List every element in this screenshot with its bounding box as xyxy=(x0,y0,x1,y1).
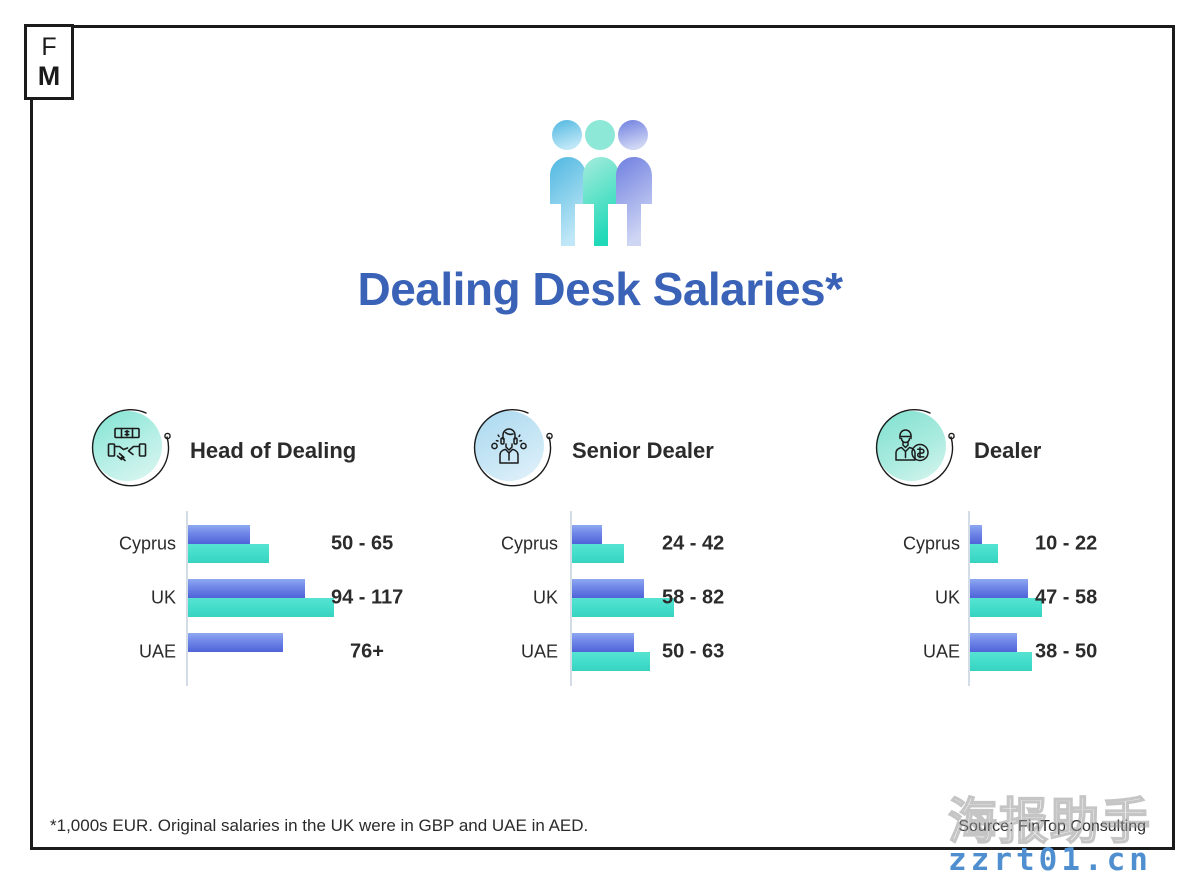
range-label: 24 - 42 xyxy=(662,533,724,556)
role-badge xyxy=(88,407,176,495)
fm-logo: F M xyxy=(24,24,74,100)
category-label: UK xyxy=(935,588,960,609)
page-title: Dealing Desk Salaries* xyxy=(0,262,1200,316)
bar-group xyxy=(188,633,283,652)
table-row: Cyprus 24 - 42 xyxy=(470,521,770,567)
panel-header: Senior Dealer xyxy=(470,405,770,497)
bar-high xyxy=(572,598,674,617)
chart-head-of-dealing: Cyprus 50 - 65 UK 94 - 117 UAE xyxy=(88,511,408,686)
table-row: Cyprus 10 - 22 xyxy=(872,521,1112,567)
panel-head-of-dealing: Head of Dealing Cyprus 50 - 65 UK 94 - 1… xyxy=(88,405,408,686)
table-row: UK 47 - 58 xyxy=(872,575,1112,621)
footnote: *1,000s EUR. Original salaries in the UK… xyxy=(50,816,588,836)
bar-low xyxy=(188,633,283,652)
role-title: Dealer xyxy=(974,438,1041,464)
logo-letter-f: F xyxy=(41,35,56,60)
bar-low xyxy=(188,525,250,544)
panel-header: Dealer xyxy=(872,405,1112,497)
range-label: 50 - 63 xyxy=(662,641,724,664)
table-row: UAE 76+ xyxy=(88,629,408,675)
role-title: Head of Dealing xyxy=(190,438,356,464)
bar-high xyxy=(970,598,1042,617)
category-label: UAE xyxy=(521,642,558,663)
dealer-coin-icon xyxy=(891,427,931,465)
table-row: UK 58 - 82 xyxy=(470,575,770,621)
category-label: Cyprus xyxy=(119,534,176,555)
panel-dealer: Dealer Cyprus 10 - 22 UK 47 - 58 xyxy=(872,405,1112,686)
range-label: 10 - 22 xyxy=(1035,533,1097,556)
chart-senior-dealer: Cyprus 24 - 42 UK 58 - 82 UAE xyxy=(470,511,770,686)
chart-dealer: Cyprus 10 - 22 UK 47 - 58 UAE xyxy=(872,511,1112,686)
category-label: Cyprus xyxy=(903,534,960,555)
panel-header: Head of Dealing xyxy=(88,405,408,497)
table-row: UAE 50 - 63 xyxy=(470,629,770,675)
bar-group xyxy=(970,525,998,563)
bar-high xyxy=(572,544,624,563)
role-badge xyxy=(470,407,558,495)
logo-letter-m: M xyxy=(38,63,61,90)
table-row: UAE 38 - 50 xyxy=(872,629,1112,675)
range-label: 94 - 117 xyxy=(331,587,403,610)
range-label: 76+ xyxy=(350,641,384,664)
category-label: Cyprus xyxy=(501,534,558,555)
range-label: 38 - 50 xyxy=(1035,641,1097,664)
table-row: Cyprus 50 - 65 xyxy=(88,521,408,567)
bar-group xyxy=(188,579,334,617)
range-label: 47 - 58 xyxy=(1035,587,1097,610)
category-label: UK xyxy=(151,588,176,609)
bar-low xyxy=(572,633,634,652)
range-label: 58 - 82 xyxy=(662,587,724,610)
range-label: 50 - 65 xyxy=(331,533,393,556)
category-label: UK xyxy=(533,588,558,609)
bar-group xyxy=(188,525,269,563)
bar-low xyxy=(970,579,1028,598)
bar-low xyxy=(572,579,644,598)
three-people-icon xyxy=(536,118,664,250)
bar-group xyxy=(572,579,674,617)
headset-agent-icon xyxy=(489,427,529,465)
bar-low xyxy=(970,525,982,544)
bar-low xyxy=(970,633,1017,652)
bar-low xyxy=(188,579,305,598)
bar-high xyxy=(188,544,269,563)
bar-high xyxy=(970,652,1032,671)
handshake-money-icon xyxy=(107,427,147,465)
bar-group xyxy=(970,633,1032,671)
bar-low xyxy=(572,525,602,544)
bar-high xyxy=(572,652,650,671)
bar-group xyxy=(572,633,650,671)
panel-senior-dealer: Senior Dealer Cyprus 24 - 42 UK 58 - 82 xyxy=(470,405,770,686)
source-credit: Source: FinTop Consulting xyxy=(958,818,1146,836)
table-row: UK 94 - 117 xyxy=(88,575,408,621)
category-label: UAE xyxy=(923,642,960,663)
role-title: Senior Dealer xyxy=(572,438,714,464)
bar-group xyxy=(572,525,624,563)
bar-group xyxy=(970,579,1042,617)
bar-high xyxy=(970,544,998,563)
infographic-canvas: F M Dealing Desk Salarie xyxy=(0,0,1200,878)
category-label: UAE xyxy=(139,642,176,663)
bar-high xyxy=(188,598,334,617)
role-badge xyxy=(872,407,960,495)
